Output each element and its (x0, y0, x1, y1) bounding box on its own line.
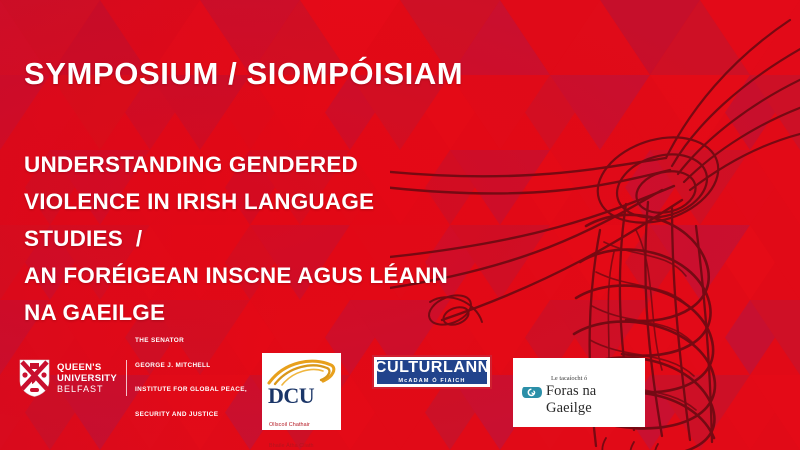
dcu-sub-line-2: Bhaile Átha Cliath (269, 443, 322, 450)
mitchell-line-4: SECURITY AND JUSTICE (135, 411, 247, 419)
mitchell-line-1: THE SENATOR (135, 337, 247, 345)
subtitle-line-4: AN FORÉIGEAN INSCNE AGUS LÉANN (24, 257, 448, 294)
queens-name-line-2: UNIVERSITY (57, 373, 117, 384)
symposium-poster-slide: SYMPOSIUM / SIOMPÓISIAM UNDERSTANDING GE… (0, 0, 800, 450)
mitchell-institute-name: THE SENATOR GEORGE J. MITCHELL INSTITUTE… (135, 321, 247, 436)
page-title: SYMPOSIUM / SIOMPÓISIAM (24, 56, 463, 92)
foras-supported-by-label: Le tacaíocht ó (551, 375, 587, 382)
symposium-subtitle: UNDERSTANDING GENDERED VIOLENCE IN IRISH… (24, 146, 448, 331)
culturlann-panel: CULTÚRLANN McADAM Ó FIAICH (377, 360, 487, 384)
logo-culturlann: CULTÚRLANN McADAM Ó FIAICH (372, 355, 492, 389)
logo-divider (126, 360, 127, 396)
culturlann-wordmark: CULTÚRLANN (374, 360, 489, 376)
subtitle-line-2: VIOLENCE IN IRISH LANGUAGE (24, 183, 448, 220)
queens-wordmark: QUEEN'S UNIVERSITY BELFAST (57, 362, 117, 395)
queens-name-line-3: BELFAST (57, 384, 117, 395)
dcu-subtext: Ollscoil Chathair Bhaile Átha Cliath Dub… (269, 408, 322, 450)
subtitle-line-1: UNDERSTANDING GENDERED (24, 146, 448, 183)
dcu-sub-line-1: Ollscoil Chathair (269, 422, 322, 429)
foras-spiral-icon (521, 385, 543, 400)
foras-name: Foras na Gaeilge (546, 383, 645, 417)
logo-foras-na-gaeilge: Le tacaíocht ó Foras na Gaeilge (513, 358, 645, 427)
queens-name-line-1: QUEEN'S (57, 362, 117, 373)
mitchell-line-2: GEORGE J. MITCHELL (135, 362, 247, 370)
subtitle-line-3: STUDIES / (24, 220, 448, 257)
culturlann-subtext: McADAM Ó FIAICH (398, 378, 465, 384)
dcu-acronym: DCU (268, 383, 314, 409)
logo-dcu: DCU Ollscoil Chathair Bhaile Átha Cliath… (262, 353, 341, 430)
sponsor-logo-strip: QUEEN'S UNIVERSITY BELFAST THE SENATOR G… (0, 345, 800, 450)
queens-crest-icon (19, 359, 50, 397)
logo-queens-university-belfast: QUEEN'S UNIVERSITY BELFAST THE SENATOR G… (19, 355, 247, 401)
mitchell-line-3: INSTITUTE FOR GLOBAL PEACE, (135, 386, 247, 394)
